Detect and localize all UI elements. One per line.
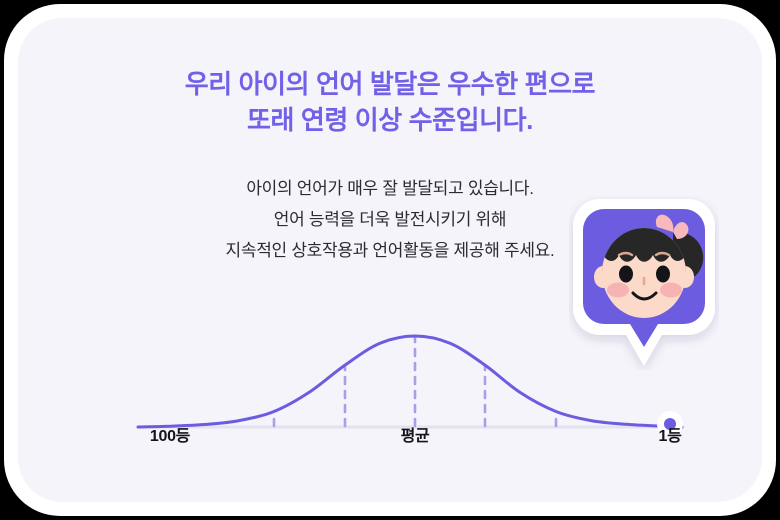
eye-right	[656, 266, 670, 283]
headline: 우리 아이의 언어 발달은 우수한 편으로 또래 연령 이상 수준입니다.	[18, 66, 762, 138]
result-card: 우리 아이의 언어 발달은 우수한 편으로 또래 연령 이상 수준입니다. 아이…	[18, 18, 762, 502]
avatar-speech-bubble[interactable]	[569, 195, 719, 370]
axis-label-worst: 100등	[150, 422, 190, 446]
axis-label-group: 100등 평균 1등	[18, 422, 762, 452]
headline-line-2: 또래 연령 이상 수준입니다.	[18, 102, 762, 138]
blush-left	[607, 283, 629, 298]
eye-left	[619, 266, 633, 283]
percentile-dashed-lines	[274, 338, 556, 426]
axis-label-average: 평균	[401, 422, 430, 446]
blush-right	[660, 283, 682, 298]
screenshot-root: 우리 아이의 언어 발달은 우수한 편으로 또래 연령 이상 수준입니다. 아이…	[0, 0, 780, 520]
headline-line-1: 우리 아이의 언어 발달은 우수한 편으로	[18, 66, 762, 102]
axis-label-best: 1등	[658, 422, 681, 446]
avatar-icon	[569, 195, 719, 370]
